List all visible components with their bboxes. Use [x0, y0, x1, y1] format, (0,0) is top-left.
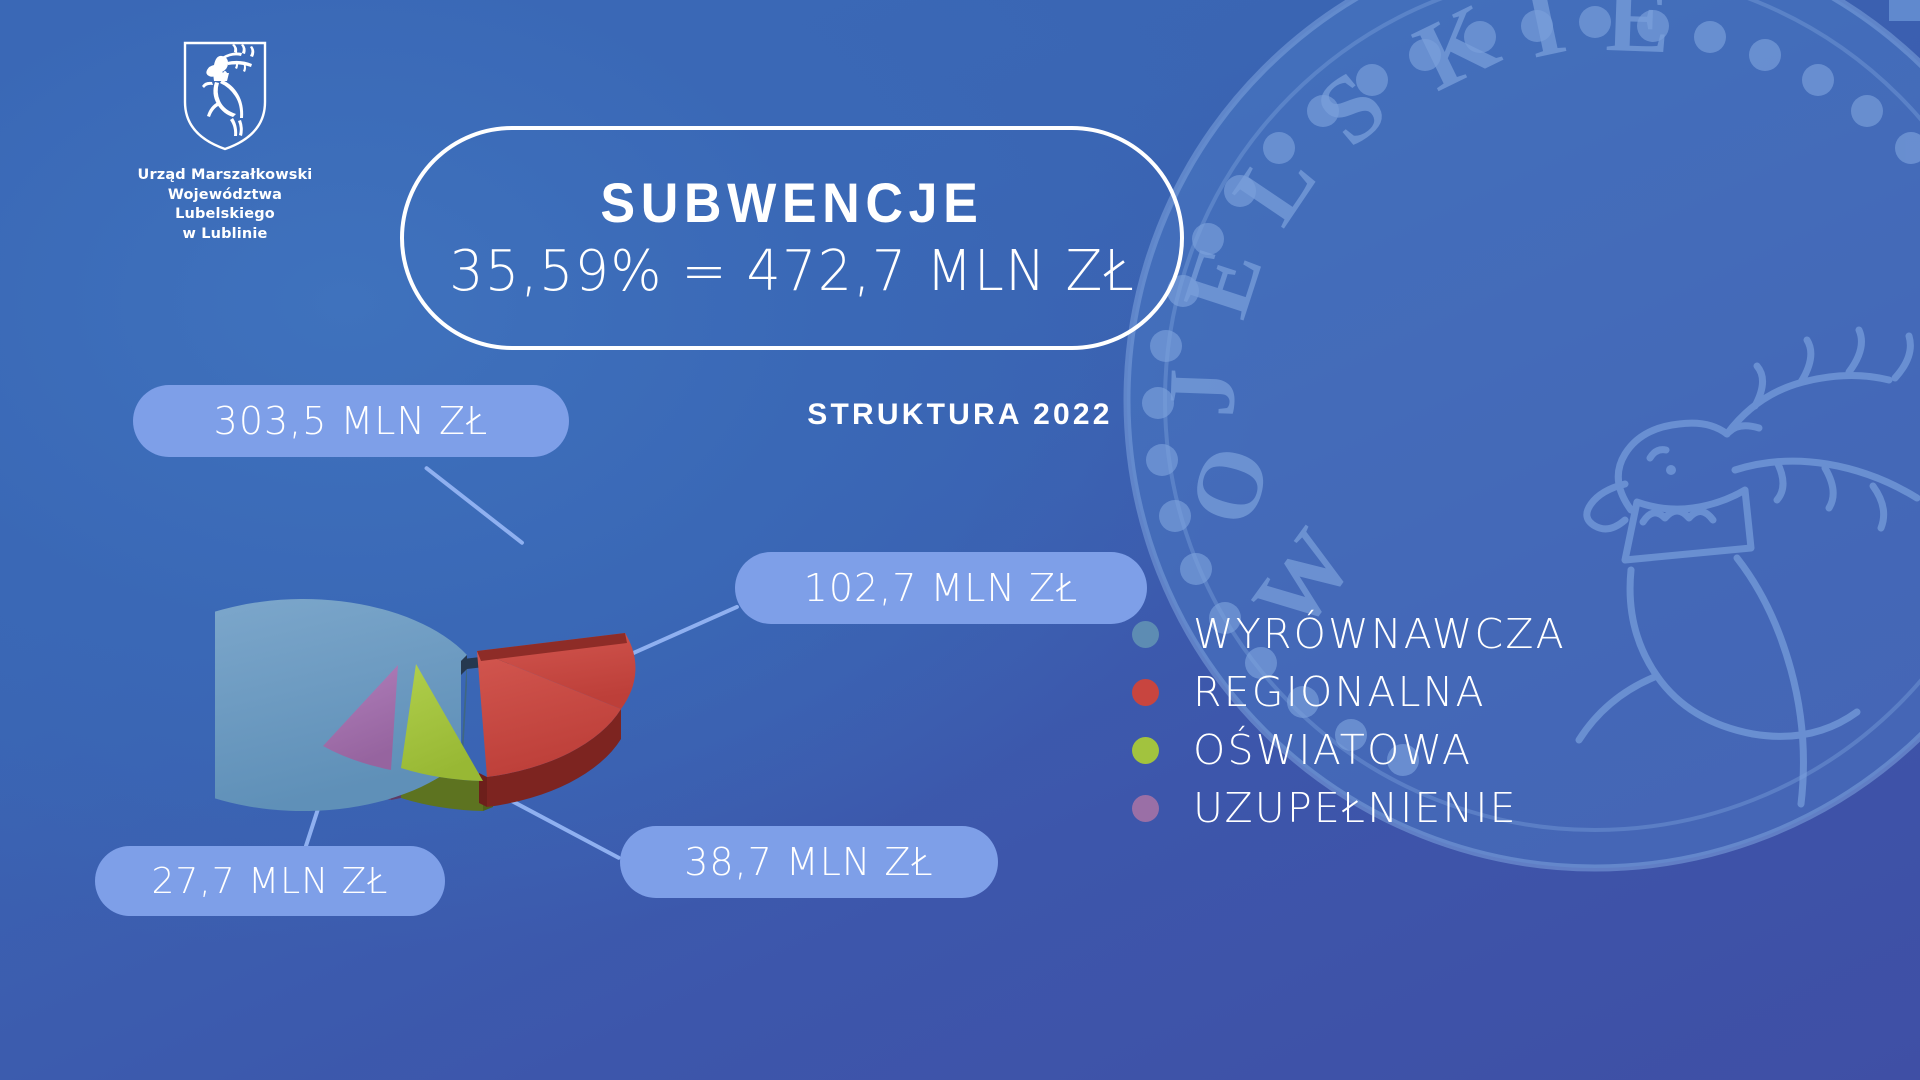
legend-item-regionalna[interactable]: REGIONALNA — [1132, 663, 1566, 721]
svg-text:O: O — [1167, 435, 1290, 536]
svg-text:L: L — [1212, 129, 1337, 242]
callout-uzupelnienie-value: 27,7 MLN ZŁ — [95, 846, 445, 916]
legend-item-wyrownawcza[interactable]: WYRÓWNAWCZA — [1132, 605, 1566, 663]
legend-label-uzupelnienie: UZUPEŁNIENIE — [1193, 788, 1518, 829]
legend-item-oswiatowa[interactable]: OŚWIATOWA — [1132, 721, 1566, 779]
callout-wyrownawcza-value: 303,5 MLN ZŁ — [133, 385, 569, 457]
organization-logo: Urząd Marszałkowski Województwa Lubelski… — [120, 40, 330, 245]
lubelskie-deer-shield-icon — [182, 40, 268, 152]
page-title: SUBWENCJE — [600, 175, 983, 231]
logo-line-2: Województwa Lubelskiego — [120, 186, 330, 225]
callout-regionalna-value: 102,7 MLN ZŁ — [735, 552, 1147, 624]
pie-chart — [215, 465, 735, 855]
header-title-box: SUBWENCJE 35,59% = 472,7 MLN ZŁ — [400, 126, 1184, 350]
svg-text:I: I — [1515, 0, 1574, 79]
logo-line-3: w Lublinie — [120, 225, 330, 245]
header-subtitle: STRUKTURA 2022 — [760, 398, 1160, 432]
legend-item-uzupelnienie[interactable]: UZUPEŁNIENIE — [1132, 779, 1566, 837]
legend-dot-wyrownawcza — [1132, 621, 1159, 648]
svg-text:J: J — [1147, 367, 1256, 419]
svg-text:S: S — [1296, 50, 1406, 166]
chart-legend: WYRÓWNAWCZA REGIONALNA OŚWIATOWA UZUPEŁN… — [1132, 605, 1566, 837]
legend-label-oswiatowa: OŚWIATOWA — [1193, 730, 1472, 771]
svg-text:E: E — [1604, 0, 1672, 73]
legend-dot-oswiatowa — [1132, 737, 1159, 764]
legend-dot-regionalna — [1132, 679, 1159, 706]
svg-text:K: K — [1399, 0, 1513, 111]
legend-label-regionalna: REGIONALNA — [1193, 672, 1486, 713]
callout-oswiatowa-value: 38,7 MLN ZŁ — [620, 826, 998, 898]
logo-line-1: Urząd Marszałkowski — [120, 166, 330, 186]
legend-label-wyrownawcza: WYRÓWNAWCZA — [1193, 614, 1566, 655]
infographic-slide: W O J E L S K I E — [0, 0, 1920, 1080]
header-amount: 35,59% = 472,7 MLN ZŁ — [449, 243, 1135, 300]
legend-dot-uzupelnienie — [1132, 795, 1159, 822]
